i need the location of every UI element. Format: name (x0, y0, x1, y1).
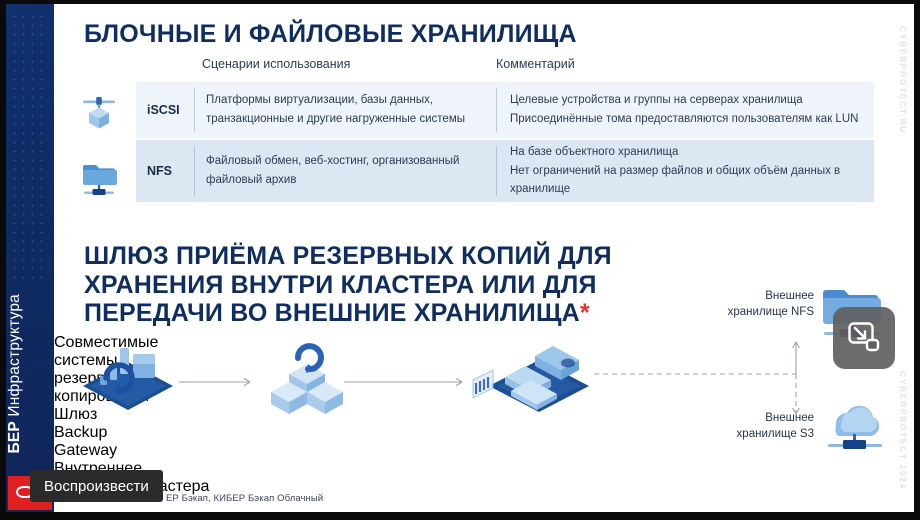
flow-node-backup-systems (76, 340, 180, 418)
usage-text: Файловый обмен, веб-хостинг, организован… (206, 152, 482, 189)
comment-line-2: Присоединённые тома предоставляются поль… (510, 110, 858, 129)
column-divider (496, 88, 497, 132)
flow-node-external-s3 (816, 396, 894, 458)
storage-protocol-table: iSCSI Платформы виртуализации, базы данн… (136, 82, 874, 202)
section-title-text: ШЛЮЗ ПРИЁМА РЕЗЕРВНЫХ КОПИЙ ДЛЯ ХРАНЕНИЯ… (84, 242, 612, 327)
presentation-slide: БЕР Инфраструктура БЛОЧНЫЕ И ФАЙЛОВЫЕ ХР… (6, 4, 914, 512)
picture-in-picture-icon (848, 322, 880, 354)
table-header-usage: Сценарии использования (202, 57, 350, 71)
table-cell-comment: На базе объектного хранилища Нет огранич… (496, 140, 874, 202)
section-title-block-file-storage: БЛОЧНЫЕ И ФАЙЛОВЫЕ ХРАНИЛИЩА (84, 20, 784, 49)
brand-rest-part: Инфраструктура (6, 294, 23, 421)
watermark-copyright: CYBERPROTECT 2024 (898, 371, 908, 490)
table-row: iSCSI Платформы виртуализации, базы данн… (136, 82, 874, 138)
comment-text: На базе объектного хранилища Нет огранич… (510, 143, 860, 199)
brand-bold-part: БЕР (6, 422, 23, 454)
flow-node-gateway (267, 338, 347, 418)
usage-text: Платформы виртуализации, базы данных, тр… (206, 91, 482, 128)
screen-root: БЕР Инфраструктура БЛОЧНЫЕ И ФАЙЛОВЫЕ ХР… (0, 0, 920, 520)
flow-caption-external-nfs: Внешнее хранилище NFS (694, 288, 814, 321)
brand-vertical-label: БЕР Инфраструктура (6, 294, 54, 454)
iscsi-block-storage-icon (76, 88, 122, 134)
watermark-url: CYBERPROTECT.RU (898, 26, 908, 134)
column-divider (496, 146, 497, 196)
comment-line-2: Нет ограничений на размер файлов и общих… (510, 162, 860, 199)
table-header-row: Сценарии использования Комментарий (84, 57, 874, 79)
backup-flow-diagram: Совместимые системы резервного копирован… (54, 334, 914, 494)
comment-text: Целевые устройства и группы на серверах … (510, 91, 858, 128)
external-s3-cloud-icon (816, 396, 894, 458)
comment-line-1: Целевые устройства и группы на серверах … (510, 91, 858, 110)
table-cell-comment: Целевые устройства и группы на серверах … (496, 82, 874, 138)
backup-systems-icon (76, 340, 180, 418)
slide-footnote: ЕР Бэкап, КИБЕР Бэкап Облачный (166, 493, 323, 504)
gateway-cubes-icon (267, 338, 347, 418)
table-cell-protocol: iSCSI (136, 82, 194, 138)
nfs-file-storage-icon (76, 156, 122, 202)
column-divider (194, 88, 195, 132)
table-header-comment: Комментарий (496, 57, 575, 71)
table-cell-usage: Платформы виртуализации, базы данных, тр… (194, 82, 496, 138)
flow-caption-external-s3: Внешнее хранилище S3 (694, 410, 814, 443)
dot-pattern-decoration (10, 12, 50, 282)
table-row: NFS Файловый обмен, веб-хостинг, организ… (136, 140, 874, 202)
table-cell-usage: Файловый обмен, веб-хостинг, организован… (194, 140, 496, 202)
brand-sidebar: БЕР Инфраструктура (6, 4, 54, 512)
section-title-backup-gateway: ШЛЮЗ ПРИЁМА РЕЗЕРВНЫХ КОПИЙ ДЛЯ ХРАНЕНИЯ… (84, 242, 724, 328)
picture-in-picture-button[interactable] (833, 307, 895, 369)
slide-content: БЛОЧНЫЕ И ФАЙЛОВЫЕ ХРАНИЛИЩА Сценарии ис… (54, 4, 914, 512)
play-tooltip: Воспроизвести (30, 470, 163, 502)
column-divider (194, 146, 195, 196)
comment-line-1: На базе объектного хранилища (510, 143, 860, 162)
flow-node-internal-storage (469, 336, 599, 420)
internal-cluster-storage-icon (469, 336, 599, 420)
asterisk-marker: * (580, 299, 590, 327)
table-cell-protocol: NFS (136, 140, 194, 202)
